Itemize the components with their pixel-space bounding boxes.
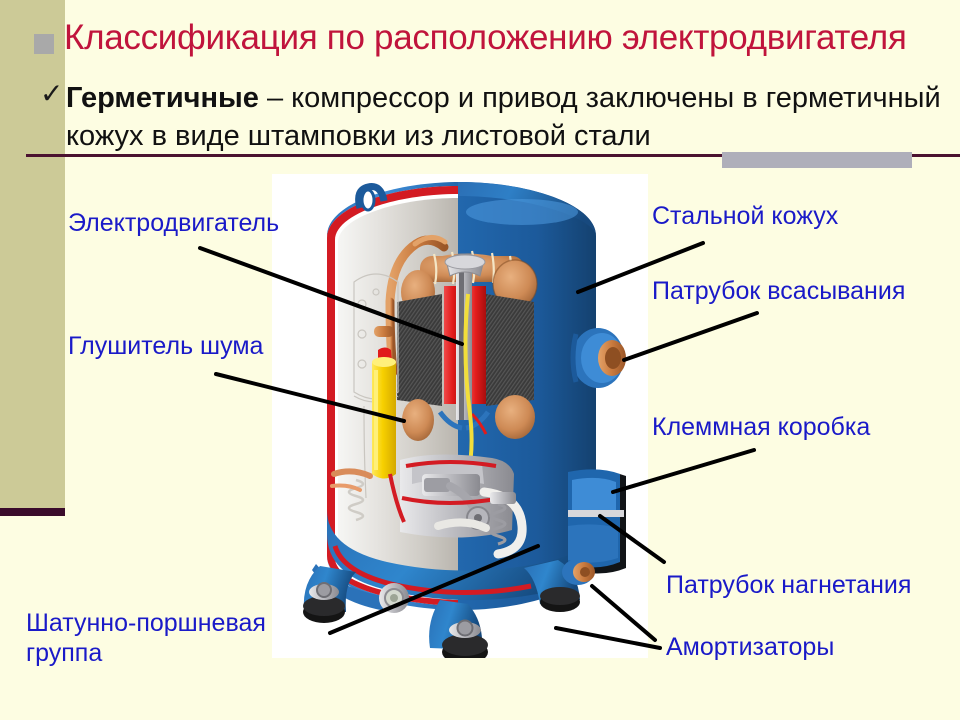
- header-grey-tab: [722, 152, 912, 168]
- callout-label-dampers: Амортизаторы: [666, 632, 834, 662]
- page-title: Классификация по расположению электродви…: [64, 18, 954, 58]
- piston: [424, 478, 450, 492]
- title-bullet-icon: [34, 34, 54, 54]
- callout-label-motor: Электродвигатель: [68, 208, 279, 238]
- stator-winding-lower-right: [495, 395, 535, 439]
- stator-winding-lower-left: [402, 399, 434, 441]
- callout-label-rodgroup: Шатунно-поршневая группа: [26, 608, 266, 668]
- side-decor-band: [0, 0, 65, 508]
- callout-label-discharge: Патрубок нагнетания: [666, 570, 911, 600]
- checkmark-icon: ✓: [40, 80, 63, 108]
- callout-label-terminal: Клеммная коробка: [652, 412, 870, 442]
- body-paragraph: Герметичные – компрессор и привод заключ…: [66, 79, 946, 156]
- copper-stub: [374, 326, 394, 337]
- compressor-illustration-panel: [272, 174, 648, 658]
- terminal-box-seam: [568, 510, 624, 517]
- callout-label-shell: Стальной кожух: [652, 201, 838, 231]
- callout-label-suction: Патрубок всасывания: [652, 276, 905, 306]
- callout-label-muffler: Глушитель шума: [68, 331, 263, 361]
- body-lead-term: Герметичные: [66, 82, 259, 114]
- compressor-cutaway-diagram: [272, 174, 648, 658]
- stator-lamination-left: [397, 294, 442, 406]
- stator-lamination-right: [486, 294, 534, 406]
- side-decor-rule: [0, 508, 65, 516]
- slide-canvas: Классификация по расположению электродви…: [0, 0, 960, 720]
